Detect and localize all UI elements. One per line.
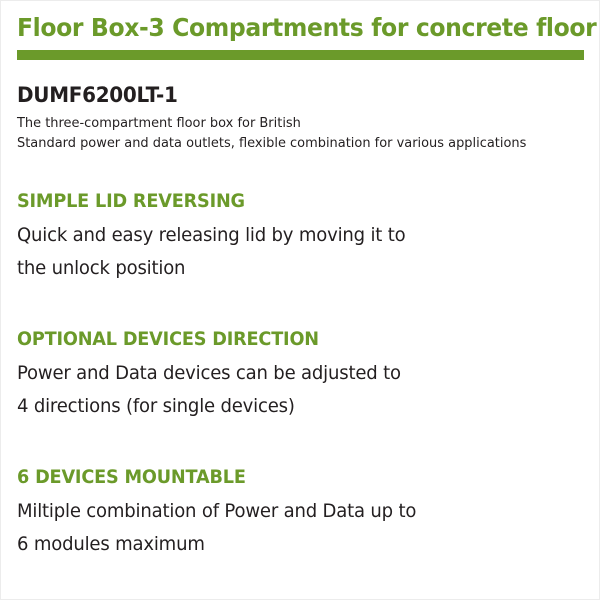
feature-heading: 6 DEVICES MOUNTABLE	[17, 465, 543, 489]
title-block: Floor Box-3 Compartments for concrete fl…	[1, 1, 599, 60]
feature-heading: OPTIONAL DEVICES DIRECTION	[17, 327, 543, 351]
product-identity-block: DUMF6200LT-1 The three-compartment floor…	[1, 60, 599, 153]
feature-item: OPTIONAL DEVICES DIRECTION Power and Dat…	[17, 327, 583, 423]
feature-body-line: Miltiple combination of Power and Data u…	[17, 495, 555, 528]
feature-item: SIMPLE LID REVERSING Quick and easy rele…	[17, 189, 583, 285]
product-spec-card: Floor Box-3 Compartments for concrete fl…	[0, 0, 600, 600]
feature-heading: SIMPLE LID REVERSING	[17, 189, 543, 213]
product-code: DUMF6200LT-1	[17, 82, 555, 108]
feature-list: SIMPLE LID REVERSING Quick and easy rele…	[1, 189, 599, 561]
product-description-line: The three-compartment floor box for Brit…	[17, 113, 560, 133]
product-description-line: Standard power and data outlets, flexibl…	[17, 133, 560, 153]
feature-body-line: the unlock position	[17, 252, 555, 285]
product-description: The three-compartment floor box for Brit…	[17, 113, 583, 153]
page-title: Floor Box-3 Compartments for concrete fl…	[17, 13, 549, 43]
feature-body-line: Power and Data devices can be adjusted t…	[17, 357, 555, 390]
title-underline-rule	[17, 50, 584, 60]
feature-body-line: 6 modules maximum	[17, 528, 555, 561]
feature-body-line: Quick and easy releasing lid by moving i…	[17, 219, 555, 252]
feature-body-line: 4 directions (for single devices)	[17, 390, 555, 423]
feature-item: 6 DEVICES MOUNTABLE Miltiple combination…	[17, 465, 583, 561]
